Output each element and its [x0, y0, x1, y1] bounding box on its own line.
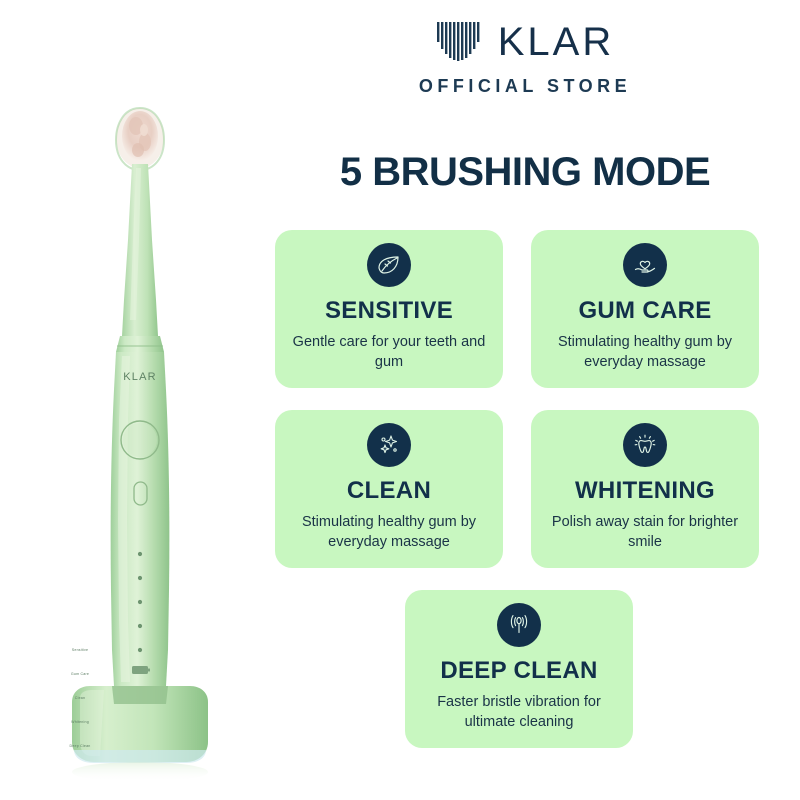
brand-header: KLAR OFFICIAL STORE: [265, 18, 785, 98]
mode-card-gum-care[interactable]: GUM CARE Stimulating healthy gum by ever…: [531, 230, 759, 388]
mode-card-whitening[interactable]: WHITENING Polish away stain for brighter…: [531, 410, 759, 568]
mode-description: Faster bristle vibration for ultimate cl…: [405, 692, 633, 732]
mode-title: GUM CARE: [578, 297, 711, 325]
mode-title: WHITENING: [575, 477, 715, 505]
mode-title: CLEAN: [347, 477, 431, 505]
brand-tagline: OFFICIAL STORE: [419, 76, 631, 97]
product-mode-label-gum-care: Gum Care: [52, 672, 108, 676]
handle-brand-text: KLAR: [123, 371, 157, 383]
leaf-icon: [367, 243, 411, 287]
base-bottom-edge: [74, 750, 206, 763]
product-mode-label-whitening: Whitening: [52, 720, 108, 724]
mode-description: Polish away stain for brighter smile: [531, 512, 759, 552]
charging-base-slot: [112, 686, 168, 704]
page-title: 5 BRUSHING MODE: [265, 150, 785, 194]
mode-title: DEEP CLEAN: [440, 657, 597, 685]
mode-card-clean[interactable]: CLEAN Stimulating healthy gum by everyda…: [275, 410, 503, 568]
product-mode-label-deep-clean: Deep Clean: [52, 744, 108, 748]
sparkles-icon: [367, 423, 411, 467]
mode-card-deep-clean[interactable]: DEEP CLEAN Faster bristle vibration for …: [405, 590, 633, 748]
mode-title: SENSITIVE: [325, 297, 453, 325]
mode-description: Gentle care for your teeth and gum: [275, 332, 503, 372]
brand-lockup: KLAR: [436, 18, 615, 66]
mode-description: Stimulating healthy gum by everyday mass…: [275, 512, 503, 552]
product-mode-label-sensitive: Sensitive: [52, 648, 108, 652]
hand-heart-icon: [623, 243, 667, 287]
surface-reflection: [72, 762, 208, 780]
neck-collar: [116, 336, 164, 352]
battery-indicator-icon: [132, 666, 150, 674]
vibration-waves-icon: [497, 603, 541, 647]
product-photo-toothbrush: KLAR: [40, 90, 260, 780]
klar-bristle-shield-icon: [436, 20, 482, 64]
shining-tooth-icon: [623, 423, 667, 467]
mode-card-sensitive[interactable]: SENSITIVE Gentle care for your teeth and…: [275, 230, 503, 388]
product-marketing-image: KLAR: [0, 0, 800, 800]
product-mode-label-clean: Clean: [52, 696, 108, 700]
brand-name: KLAR: [498, 22, 615, 62]
mode-description: Stimulating healthy gum by everyday mass…: [531, 332, 759, 372]
